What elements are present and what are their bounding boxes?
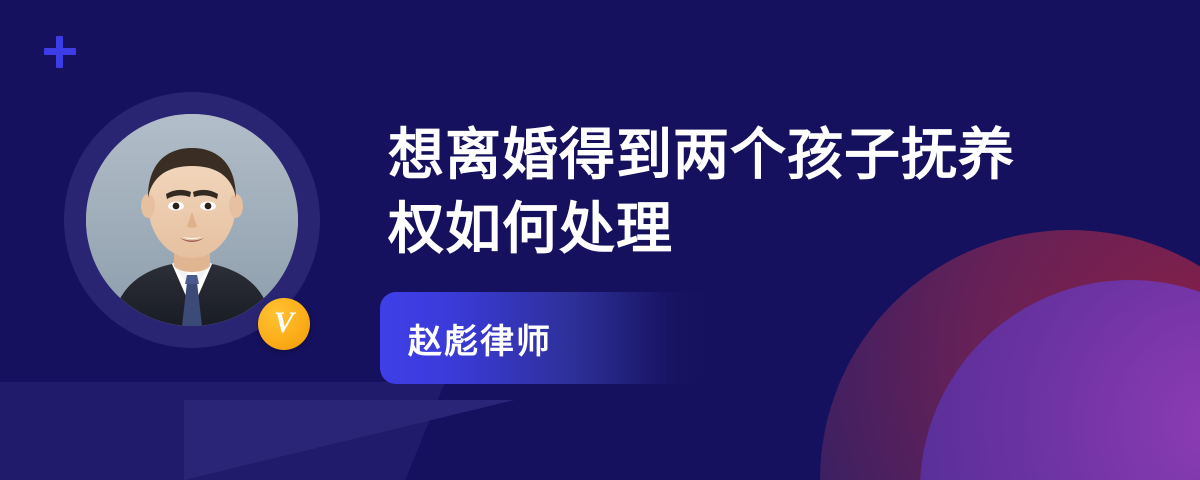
decor-left-band	[0, 382, 445, 480]
plus-icon	[44, 36, 76, 68]
lawyer-name-label: 赵彪律师	[408, 314, 552, 363]
decor-left-triangle	[184, 400, 514, 480]
decor-violet-blob	[920, 280, 1200, 480]
verified-badge-icon: V	[258, 298, 310, 350]
lawyer-promo-banner: V 想离婚得到两个孩子抚养 权如何处理 赵彪律师	[0, 0, 1200, 480]
lawyer-name-badge[interactable]: 赵彪律师	[380, 292, 710, 384]
decor-crimson-blob	[820, 230, 1200, 480]
verified-badge-label: V	[274, 308, 294, 338]
headline-line-1: 想离婚得到两个孩子抚养	[388, 118, 1148, 192]
headline-line-2: 权如何处理	[388, 192, 1148, 266]
avatar-photo	[86, 114, 298, 326]
headline-block: 想离婚得到两个孩子抚养 权如何处理	[388, 118, 1148, 266]
